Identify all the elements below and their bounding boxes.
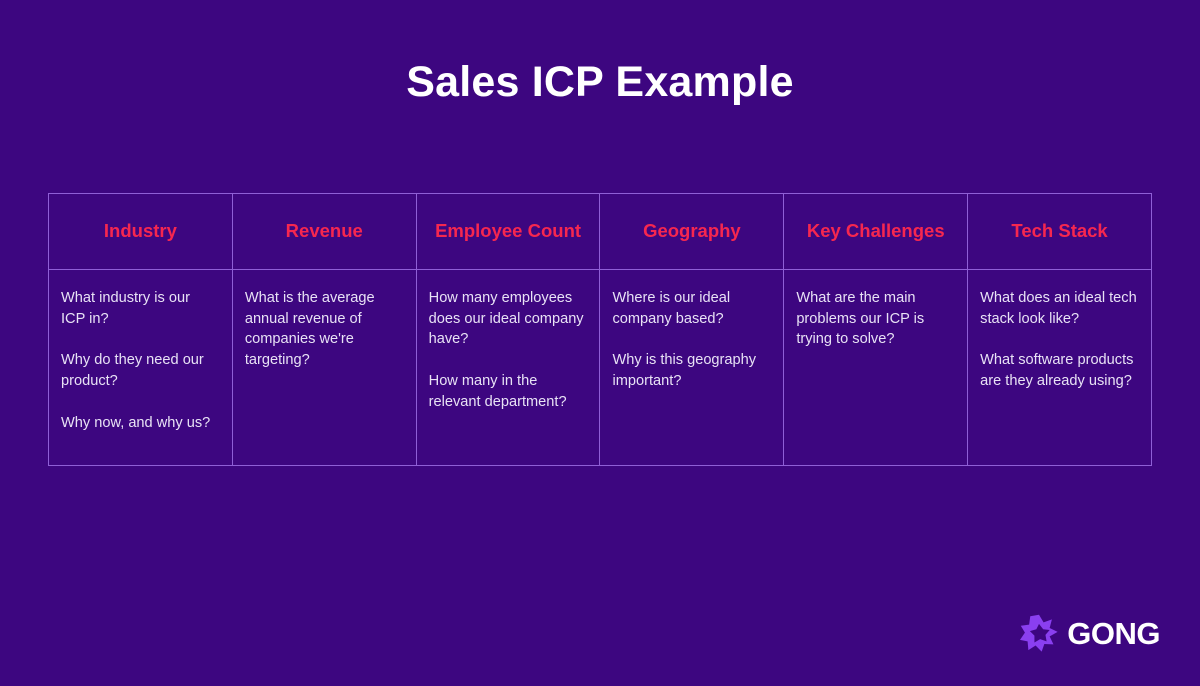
gong-starburst-icon (1020, 614, 1058, 652)
column-header-revenue: Revenue (232, 194, 416, 270)
icp-table: Industry Revenue Employee Count Geograph… (48, 193, 1152, 466)
question-item: What are the main problems our ICP is tr… (796, 288, 953, 350)
cell-industry: What industry is our ICP in? Why do they… (49, 270, 233, 466)
column-header-geography: Geography (600, 194, 784, 270)
question-item: Where is our ideal company based? (612, 288, 769, 329)
column-header-industry: Industry (49, 194, 233, 270)
cell-employee-count: How many employees does our ideal compan… (416, 270, 600, 466)
icp-table-container: Industry Revenue Employee Count Geograph… (48, 193, 1152, 466)
question-item: Why is this geography important? (612, 350, 769, 391)
column-header-employee-count: Employee Count (416, 194, 600, 270)
page-title: Sales ICP Example (0, 58, 1200, 107)
question-item: How many employees does our ideal compan… (429, 288, 586, 350)
column-header-tech-stack: Tech Stack (968, 194, 1152, 270)
gong-logo: GONG (1020, 614, 1160, 652)
icp-table-header-row: Industry Revenue Employee Count Geograph… (49, 194, 1152, 270)
question-item: How many in the relevant department? (429, 371, 586, 412)
gong-wordmark: GONG (1067, 618, 1160, 649)
column-header-key-challenges: Key Challenges (784, 194, 968, 270)
question-item: Why now, and why us? (61, 413, 218, 434)
question-item: Why do they need our product? (61, 350, 218, 391)
cell-tech-stack: What does an ideal tech stack look like?… (968, 270, 1152, 466)
cell-key-challenges: What are the main problems our ICP is tr… (784, 270, 968, 466)
slide-canvas: Sales ICP Example Industry Revenue Emplo… (0, 0, 1200, 686)
question-item: What industry is our ICP in? (61, 288, 218, 329)
question-item: What does an ideal tech stack look like? (980, 288, 1137, 329)
question-item: What is the average annual revenue of co… (245, 288, 402, 371)
icp-table-body-row: What industry is our ICP in? Why do they… (49, 270, 1152, 466)
question-item: What software products are they already … (980, 350, 1137, 391)
cell-revenue: What is the average annual revenue of co… (232, 270, 416, 466)
cell-geography: Where is our ideal company based? Why is… (600, 270, 784, 466)
